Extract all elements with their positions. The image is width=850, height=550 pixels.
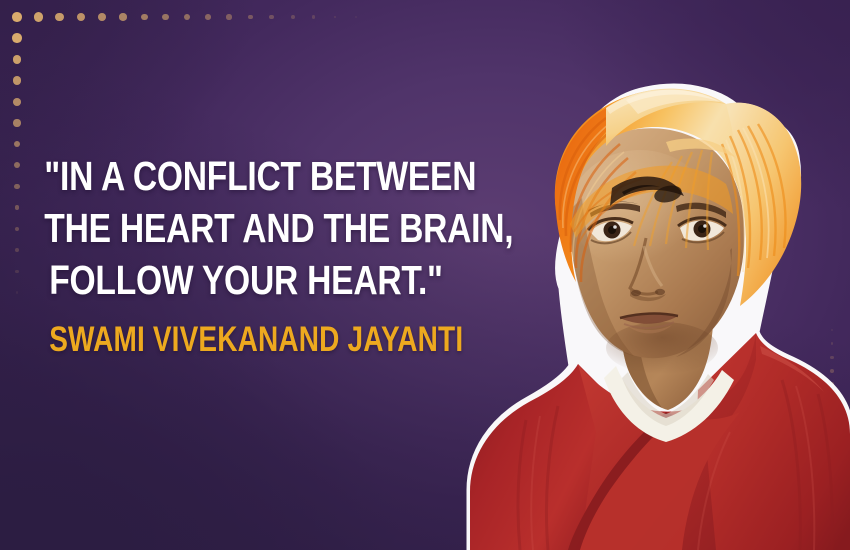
- decorative-dot: [162, 14, 168, 20]
- quote-attribution: SWAMI VIVEKANAND JAYANTI: [49, 320, 443, 360]
- decorative-dot: [13, 98, 21, 106]
- decorative-dot: [269, 15, 273, 19]
- decorative-dot: [13, 76, 21, 84]
- portrait-swami-vivekananda: [430, 60, 850, 550]
- decorative-dot: [77, 13, 85, 21]
- quote-line-3: FOLLOW YOUR HEART.": [44, 254, 447, 306]
- decorative-dot: [55, 13, 64, 22]
- decorative-dot: [141, 14, 148, 21]
- decorative-dot: [34, 12, 43, 21]
- decorative-dot: [205, 14, 211, 20]
- decorative-dot: [98, 13, 106, 21]
- decorative-dot: [12, 33, 22, 43]
- quote-text-block: "IN A CONFLICT BETWEEN THE HEART AND THE…: [0, 150, 492, 360]
- decorative-dot: [13, 55, 22, 64]
- decorative-dot: [184, 14, 190, 20]
- decorative-dot: [13, 119, 20, 126]
- decorative-dot: [12, 12, 22, 22]
- decorative-dot: [291, 15, 295, 19]
- quote-line-1: "IN A CONFLICT BETWEEN: [44, 150, 447, 202]
- quote-line-2: THE HEART AND THE BRAIN,: [44, 202, 447, 254]
- decorative-dot: [248, 15, 253, 20]
- decorative-dot: [119, 13, 126, 20]
- quote-card: "IN A CONFLICT BETWEEN THE HEART AND THE…: [0, 0, 850, 550]
- decorative-dot: [226, 14, 231, 19]
